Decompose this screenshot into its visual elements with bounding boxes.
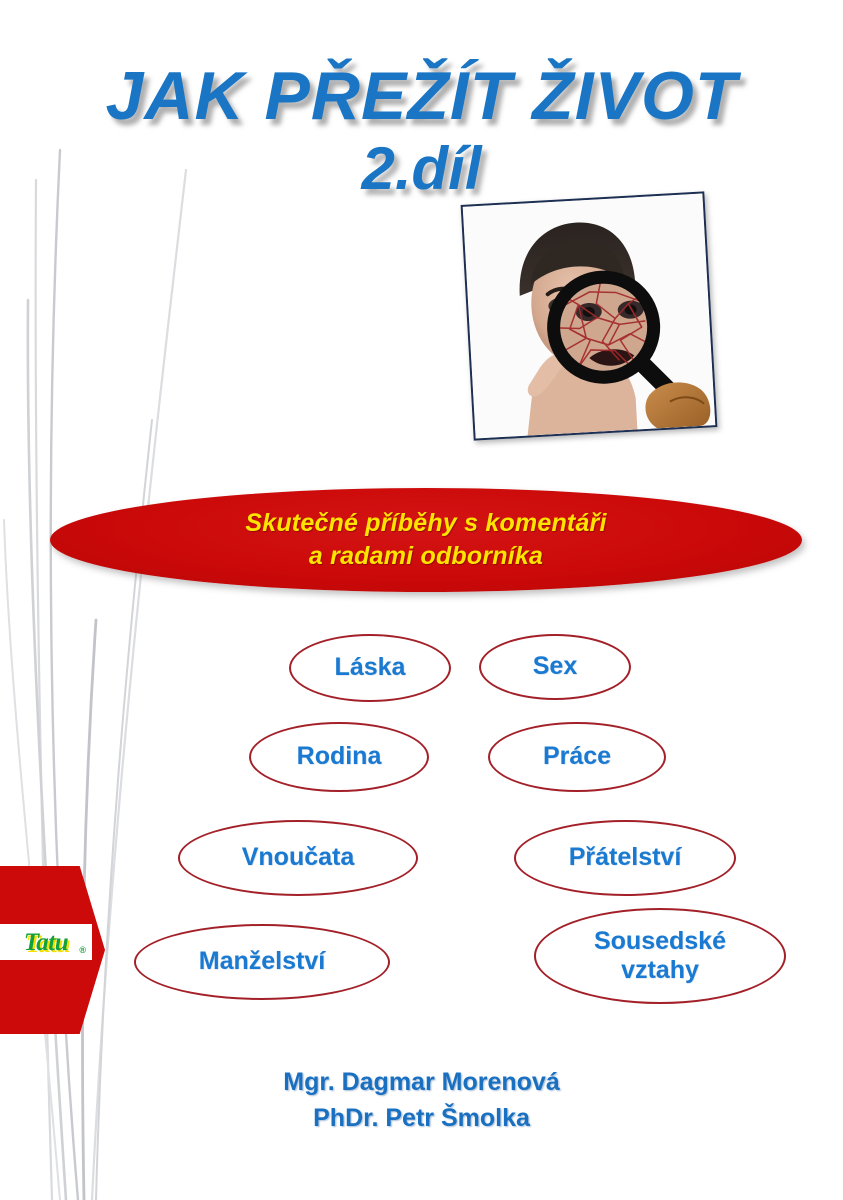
topic-oval-pratelstvi: Přátelství	[514, 820, 736, 896]
magnifier-face-illustration	[463, 193, 716, 438]
banner-text: Skutečné příběhy s komentáři a radami od…	[245, 507, 606, 573]
author-name-2: PhDr. Petr Šmolka	[0, 1100, 843, 1136]
subtitle-banner: Skutečné příběhy s komentáři a radami od…	[50, 488, 802, 592]
topic-label: Sousedské vztahy	[594, 927, 726, 986]
topic-label: Láska	[335, 653, 406, 683]
topic-label: Sex	[533, 652, 577, 682]
page-title: JAK PŘEŽÍT ŽIVOT	[0, 62, 843, 131]
topic-label: Manželství	[199, 947, 325, 977]
title-block: JAK PŘEŽÍT ŽIVOT 2.díl	[0, 62, 843, 200]
book-cover: JAK PŘEŽÍT ŽIVOT 2.díl	[0, 0, 843, 1200]
topic-label: Přátelství	[569, 843, 682, 873]
authors-block: Mgr. Dagmar Morenová PhDr. Petr Šmolka	[0, 1064, 843, 1137]
topic-oval-vnoucata: Vnoučata	[178, 820, 418, 896]
logo-wordmark: Tatu	[24, 930, 68, 955]
topic-label: Práce	[543, 742, 611, 772]
registered-trademark-icon: ®	[79, 945, 86, 955]
author-name-1: Mgr. Dagmar Morenová	[0, 1064, 843, 1100]
topic-oval-sousedske-vztahy: Sousedské vztahy	[534, 908, 786, 1004]
topic-oval-prace: Práce	[488, 722, 666, 792]
publisher-logo: Tatu ®	[0, 866, 105, 1034]
topic-oval-sex: Sex	[479, 634, 631, 700]
topic-oval-rodina: Rodina	[249, 722, 429, 792]
volume-subtitle: 2.díl	[0, 137, 843, 200]
logo-band: Tatu ®	[0, 924, 92, 960]
topic-label: Rodina	[297, 742, 382, 772]
cover-photo	[461, 191, 718, 440]
topic-label: Vnoučata	[242, 843, 355, 873]
topic-oval-manzelstvi: Manželství	[134, 924, 390, 1000]
topic-oval-laska: Láska	[289, 634, 451, 702]
